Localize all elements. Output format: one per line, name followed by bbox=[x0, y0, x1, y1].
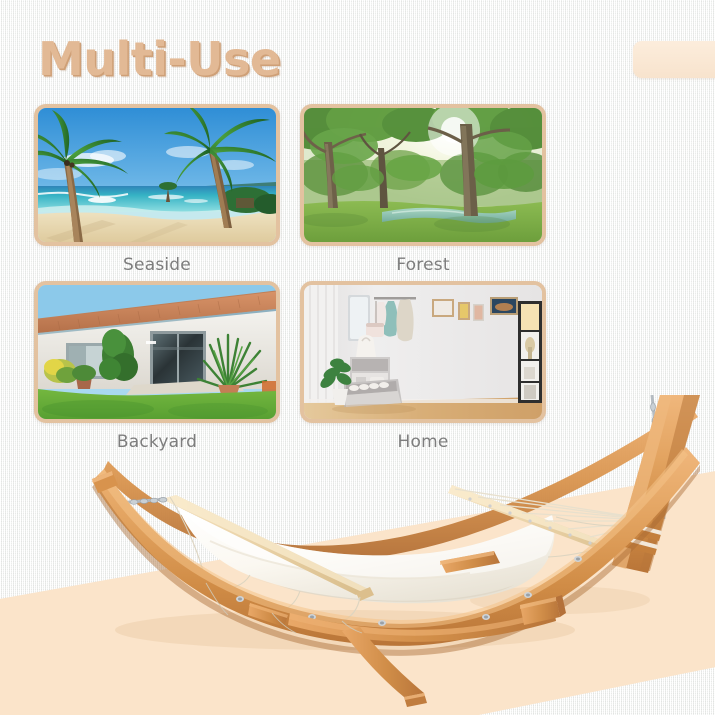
use-case-card-forest[interactable]: Forest bbox=[300, 104, 546, 275]
backyard-illustration bbox=[38, 285, 276, 419]
seaside-illustration bbox=[38, 108, 276, 242]
use-case-card-grid: Seaside bbox=[34, 104, 546, 452]
home-thumbnail bbox=[300, 281, 546, 423]
card-label-backyard: Backyard bbox=[34, 432, 280, 452]
brand-tag bbox=[633, 41, 715, 78]
use-case-card-home[interactable]: Home bbox=[300, 281, 546, 452]
home-illustration bbox=[304, 285, 542, 419]
card-label-home: Home bbox=[300, 432, 546, 452]
use-case-card-seaside[interactable]: Seaside bbox=[34, 104, 280, 275]
product-feature-graphic: Multi-Use bbox=[0, 0, 715, 715]
forest-thumbnail bbox=[300, 104, 546, 246]
use-case-card-backyard[interactable]: Backyard bbox=[34, 281, 280, 452]
card-label-forest: Forest bbox=[300, 255, 546, 275]
page-title: Multi-Use bbox=[38, 32, 281, 86]
card-label-seaside: Seaside bbox=[34, 255, 280, 275]
seaside-thumbnail bbox=[34, 104, 280, 246]
backyard-thumbnail bbox=[34, 281, 280, 423]
forest-illustration bbox=[304, 108, 542, 242]
